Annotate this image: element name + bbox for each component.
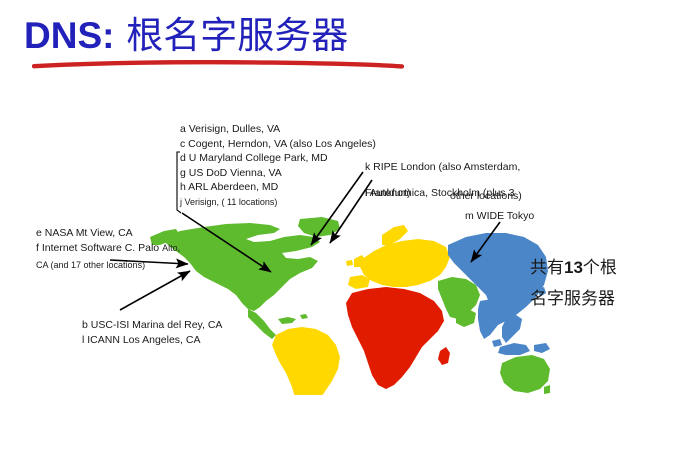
server-entry-f-city: Alto, (162, 243, 180, 253)
server-entry-i: i Autonomica, Stockholm (plus 3 (365, 186, 514, 201)
title-chinese-part: 根名字服务器 (114, 14, 348, 57)
caption-suffix: 个根 (583, 258, 617, 278)
annotation-socal-servers: b USC-ISI Marina del Rey, CA l ICANN Los… (82, 318, 222, 347)
continent-europe (346, 225, 450, 289)
caption-server-count: 13 (564, 258, 583, 277)
annotation-us-west-servers: e NASA Mt View, CA f Internet Software C… (36, 226, 180, 273)
annotation-us-east-servers: a Verisign, Dulles, VA c Cogent, Herndon… (180, 122, 376, 210)
server-entry-c: c Cogent, Herndon, VA (also Los Angeles) (180, 137, 376, 152)
server-entry-f-cont: CA (and 17 other locations) (36, 258, 180, 273)
annotation-europe-servers: k RIPE London (also Amsterdam, Frankfurt… (365, 160, 522, 204)
server-entry-j: j Verisign, ( 11 locations) (180, 195, 376, 210)
server-entry-f-main: f Internet Software C. Palo (36, 242, 162, 254)
continent-africa (346, 287, 450, 389)
server-entry-m: m WIDE Tokyo (465, 209, 534, 224)
server-entry-b: b USC-ISI Marina del Rey, CA (82, 318, 222, 333)
page-title: DNS: 根名字服务器 (24, 14, 504, 58)
caption-prefix: 共有 (530, 258, 564, 278)
world-map-svg (150, 215, 550, 395)
annotation-tokyo-server: m WIDE Tokyo (465, 209, 534, 224)
summary-caption: 共有13个根 名字服务器 (530, 252, 617, 315)
server-entry-d: d U Maryland College Park, MD (180, 151, 376, 166)
slide-title: DNS: 根名字服务器 (24, 14, 504, 76)
continent-australia (500, 355, 550, 394)
title-underline-swoosh (32, 60, 404, 69)
region-middle-east (438, 277, 480, 327)
caption-line-1: 共有13个根 (530, 252, 617, 284)
continent-south-america (272, 327, 340, 395)
server-entry-k: k RIPE London (also Amsterdam, (365, 160, 522, 175)
server-entry-e: e NASA Mt View, CA (36, 226, 180, 241)
server-entry-f: f Internet Software C. Palo Alto, (36, 241, 180, 256)
server-entry-g: g US DoD Vienna, VA (180, 166, 376, 181)
caption-line-2: 名字服务器 (530, 284, 617, 315)
world-map (150, 215, 550, 395)
slide-root: DNS: 根名字服务器 (0, 0, 694, 462)
server-entry-h: h ARL Aberdeen, MD (180, 180, 376, 195)
server-entry-l: l ICANN Los Angeles, CA (82, 333, 222, 348)
title-latin-part: DNS: (24, 15, 114, 56)
server-entry-a: a Verisign, Dulles, VA (180, 122, 376, 137)
